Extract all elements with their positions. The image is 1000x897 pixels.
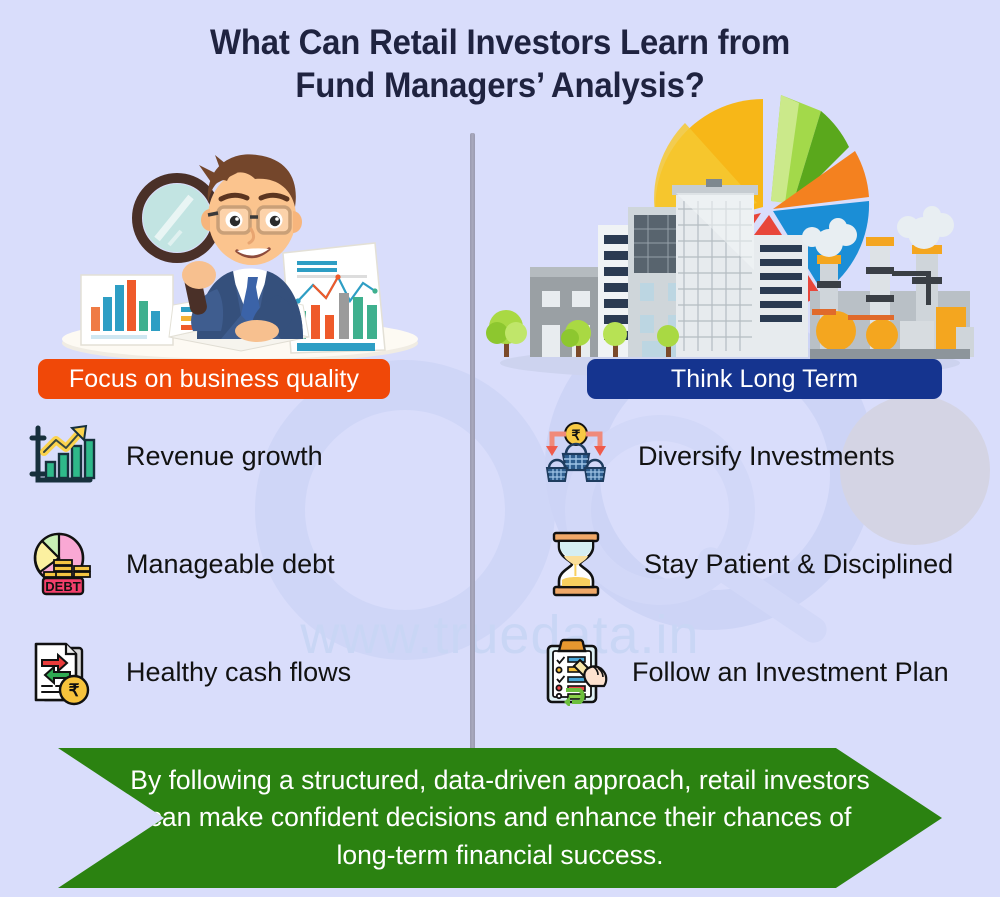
list-item-label: Follow an Investment Plan (632, 657, 949, 688)
list-item[interactable]: Stay Patient & Disciplined (538, 510, 988, 618)
cash-flow-document-icon: ₹ (24, 638, 100, 706)
list-item[interactable]: ₹ Diver (538, 402, 988, 510)
hourglass-icon (538, 530, 614, 598)
banner-focus-on-business-quality[interactable]: Focus on business quality (38, 359, 390, 399)
list-item-label: Stay Patient & Disciplined (644, 549, 953, 580)
list-item-label: Revenue growth (126, 441, 323, 472)
analyst-with-magnifier-illustration (45, 125, 435, 370)
list-item-label: Healthy cash flows (126, 657, 351, 688)
footer-line-1: By following a structured, data-driven a… (120, 762, 880, 800)
list-item[interactable]: ₹ Healthy cash flows (24, 618, 454, 726)
banner-left-label: Focus on business quality (69, 365, 359, 394)
bar-chart-growth-icon (24, 422, 100, 490)
svg-text:₹: ₹ (572, 427, 581, 443)
column-divider (470, 133, 475, 758)
list-item[interactable]: DEBT Manageable debt (24, 510, 454, 618)
svg-text:₹: ₹ (69, 681, 80, 700)
pie-chart-debt-coins-icon: DEBT (24, 530, 100, 598)
footer-ribbon-banner: By following a structured, data-driven a… (58, 748, 942, 888)
list-item-label: Diversify Investments (638, 441, 895, 472)
svg-text:DEBT: DEBT (45, 579, 80, 594)
right-benefit-list: ₹ Diver (538, 402, 988, 726)
left-benefit-list: Revenue growth DEBT Manageable debt (24, 402, 454, 726)
banner-right-label: Think Long Term (671, 365, 858, 394)
footer-ribbon-text: By following a structured, data-driven a… (120, 762, 880, 875)
banner-think-long-term[interactable]: Think Long Term (587, 359, 942, 399)
city-industry-pie-chart-illustration (480, 95, 980, 380)
list-item[interactable]: Follow an Investment Plan (538, 618, 988, 726)
rupee-baskets-diversify-icon: ₹ (538, 422, 614, 490)
page-title-line-1: What Can Retail Investors Learn from (210, 23, 790, 62)
footer-line-3: long-term financial success. (120, 837, 880, 875)
footer-line-2: can make confident decisions and enhance… (120, 799, 880, 837)
list-item[interactable]: Revenue growth (24, 402, 454, 510)
list-item-label: Manageable debt (126, 549, 335, 580)
clipboard-checklist-hand-icon (538, 638, 614, 706)
